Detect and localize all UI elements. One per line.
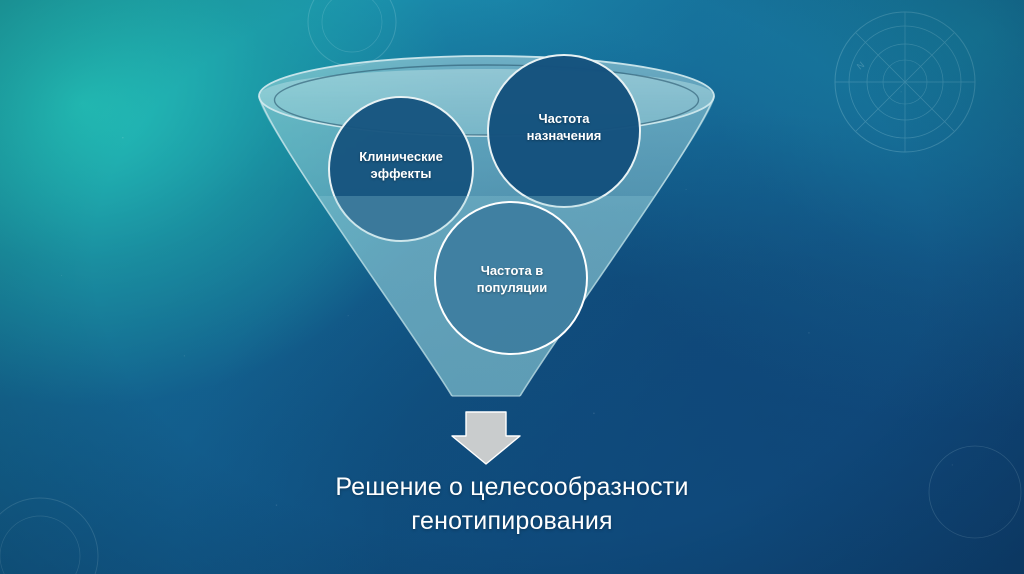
presentation-slide: N <box>0 0 1024 574</box>
bubble-prescription-frequency[interactable] <box>488 55 640 207</box>
svg-text:N: N <box>855 60 866 72</box>
decorative-compass-icon: N <box>835 12 975 152</box>
funnel-diagram: N <box>0 0 1024 574</box>
bubble-population-frequency[interactable] <box>435 202 587 354</box>
down-arrow-icon <box>452 412 520 464</box>
